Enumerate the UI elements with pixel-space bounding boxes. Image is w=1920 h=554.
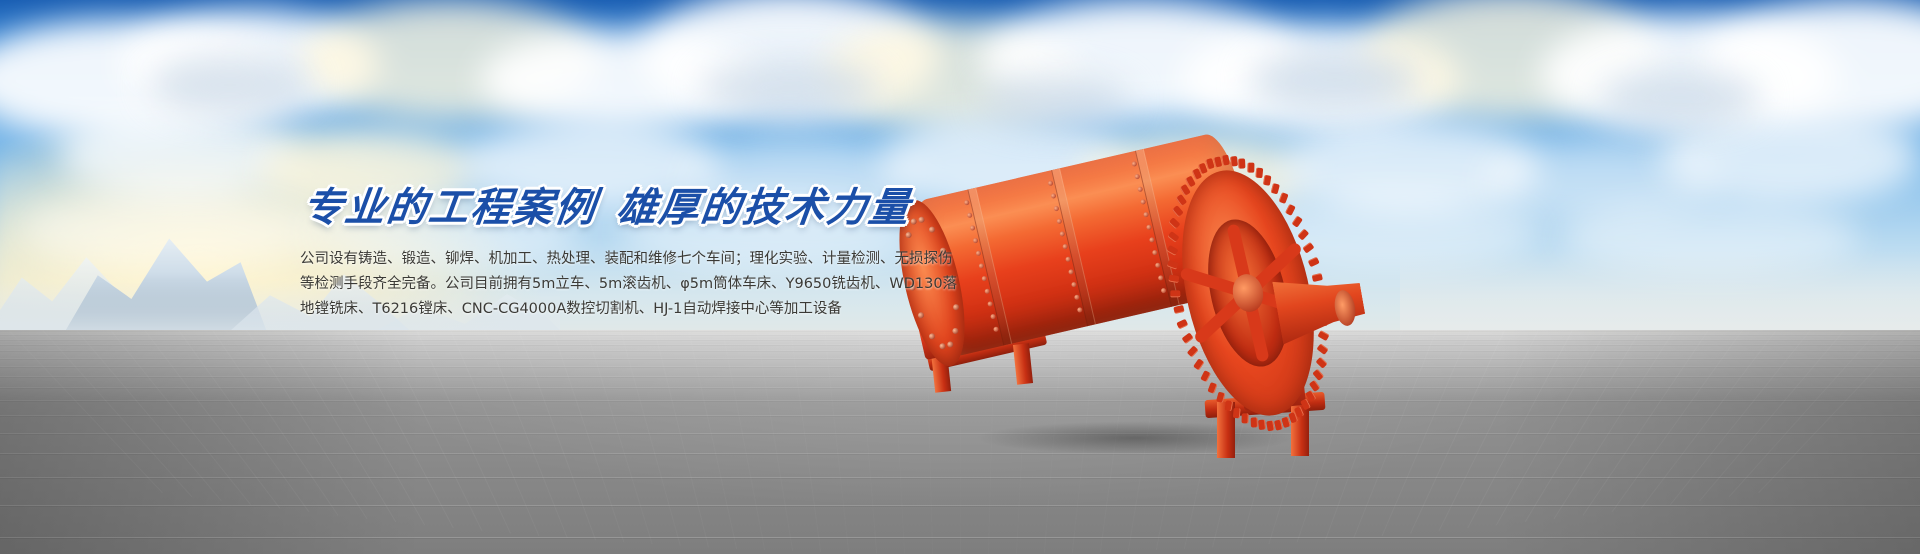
- description-line-1: 公司设有铸造、锻造、铆焊、机加工、热处理、装配和维修七个车间；理化实验、计量检测…: [300, 247, 940, 272]
- gear-tooth: [1307, 257, 1319, 268]
- end-cap-bolt: [928, 332, 935, 339]
- description-line-3: 地镗铣床、T6216镗床、CNC-CG4000A数控切割机、HJ-1自动焊接中心…: [300, 297, 940, 322]
- gear-tooth: [1255, 168, 1263, 179]
- drum-rivet: [981, 276, 987, 282]
- gear-tooth: [1208, 382, 1218, 394]
- gear-tooth: [1221, 155, 1230, 166]
- end-cap-bolt: [952, 303, 959, 310]
- cloud: [1250, 50, 1420, 110]
- drum-rivet: [1146, 224, 1152, 230]
- drum-rivet: [967, 212, 973, 218]
- drum-rivet: [1050, 193, 1056, 199]
- gear-tooth: [1230, 156, 1238, 167]
- gear-tooth: [1250, 417, 1257, 427]
- drum-rivet: [984, 288, 990, 294]
- gear-tooth: [1312, 272, 1323, 281]
- machine-leg-left-b: [1013, 343, 1033, 384]
- drum-rivet: [1056, 218, 1062, 224]
- gear-tooth: [1181, 332, 1193, 344]
- gear-tooth: [1247, 162, 1254, 172]
- drum-rivet: [1048, 180, 1054, 186]
- gear-tooth: [1167, 260, 1179, 270]
- drum-rivet: [1158, 275, 1164, 281]
- banner-headline: 专业的工程案例雄厚的技术力量: [300, 186, 946, 231]
- gear-tooth: [1263, 175, 1272, 186]
- cloud: [60, 110, 300, 200]
- end-cap-bolt: [952, 327, 959, 334]
- distant-haze: [1400, 250, 1920, 340]
- headline-part-2: 雄厚的技术力量: [614, 184, 914, 231]
- end-cap-bolt: [939, 343, 946, 350]
- drum-rivet: [993, 326, 999, 332]
- gear-tooth: [1303, 242, 1315, 254]
- drum-rivet: [1149, 237, 1155, 243]
- gear-tooth: [1175, 194, 1187, 206]
- drum-rivet: [978, 263, 984, 269]
- drum-rivet: [970, 225, 976, 231]
- drum-rivet: [1137, 186, 1143, 192]
- cloud: [150, 55, 310, 115]
- hero-banner: 专业的工程案例雄厚的技术力量 公司设有铸造、锻造、铆焊、机加工、热处理、装配和维…: [0, 0, 1920, 554]
- gear-tooth: [1224, 400, 1233, 411]
- gear-tooth: [1285, 203, 1296, 215]
- drum-rivet: [973, 238, 979, 244]
- gear-tooth: [1216, 392, 1225, 403]
- gear-tooth: [1266, 420, 1275, 431]
- drum-rivet: [1131, 161, 1137, 167]
- drum-rivet: [1059, 231, 1065, 237]
- gear-tooth: [1177, 318, 1189, 329]
- gear-tooth: [1242, 413, 1249, 423]
- drum-rivet: [1134, 174, 1140, 180]
- gear-tooth: [1169, 217, 1181, 229]
- gear-tooth: [1315, 357, 1327, 369]
- gear-tooth: [1317, 330, 1329, 341]
- gear-tooth: [1317, 344, 1329, 356]
- gear-tooth: [1187, 345, 1199, 357]
- headline-part-1: 专业的工程案例: [300, 184, 600, 231]
- drum-rivet: [1161, 288, 1167, 294]
- gear-tooth: [1171, 291, 1181, 298]
- drum-rivet: [1071, 282, 1077, 288]
- cloud: [980, 75, 1130, 125]
- drum-rivet: [964, 200, 970, 206]
- drum-rivet: [987, 301, 993, 307]
- drum-rivet: [1074, 294, 1080, 300]
- drum-rivet: [1053, 206, 1059, 212]
- drum-rivet: [975, 250, 981, 256]
- gear-tooth: [1271, 183, 1280, 194]
- drum-rivet: [1065, 256, 1071, 262]
- drum-rivet: [990, 314, 996, 320]
- gear-tooth: [1312, 369, 1324, 381]
- gear-tooth: [1258, 419, 1266, 430]
- gear-tooth: [1193, 358, 1204, 370]
- drum-rivet: [1077, 307, 1083, 313]
- gear-tooth: [1233, 408, 1241, 419]
- drum-rivet: [1140, 199, 1146, 205]
- drum-rivet: [1152, 250, 1158, 256]
- cloud: [1660, 110, 1920, 205]
- gear-tooth: [1172, 205, 1184, 217]
- drum-rivet: [1068, 269, 1074, 275]
- end-cap-bolt: [947, 341, 954, 348]
- gear-tooth: [1167, 231, 1179, 243]
- gear-tooth: [1166, 245, 1178, 256]
- drum-rivet: [1062, 244, 1068, 250]
- description-line-2: 等检测手段齐全完备。公司目前拥有5m立车、5m滚齿机、φ5m筒体车床、Y9650…: [300, 272, 940, 297]
- gear-tooth: [1238, 158, 1245, 168]
- gear-tooth: [1291, 215, 1302, 227]
- drum-rivet: [1155, 262, 1161, 268]
- drum-rivet: [1143, 212, 1149, 218]
- banner-description: 公司设有铸造、锻造、铆焊、机加工、热处理、装配和维修七个车间；理化实验、计量检测…: [300, 247, 940, 322]
- gear-tooth: [1278, 193, 1288, 205]
- banner-copy: 专业的工程案例雄厚的技术力量 公司设有铸造、锻造、铆焊、机加工、热处理、装配和维…: [300, 186, 940, 322]
- gear-tooth: [1200, 370, 1211, 382]
- gear-tooth: [1173, 304, 1184, 313]
- cloud: [700, 60, 880, 115]
- gear-tooth: [1297, 228, 1309, 240]
- ball-mill-machine: [905, 150, 1385, 480]
- cloud: [1600, 70, 1760, 125]
